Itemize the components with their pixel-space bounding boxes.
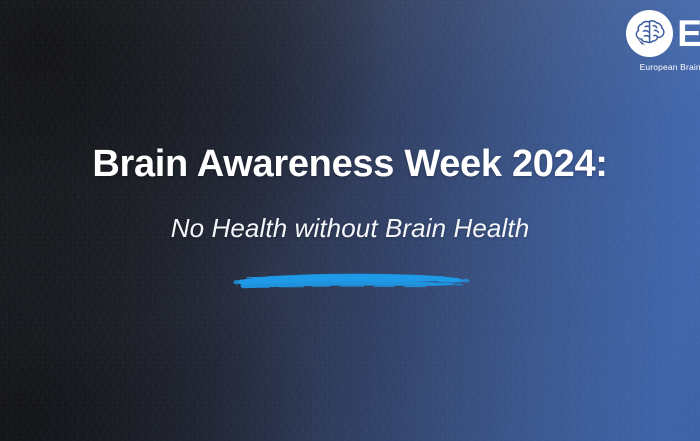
slide-title: Brain Awareness Week 2024: — [0, 144, 700, 186]
slide-canvas: EB European Brain Co Brain Awareness Wee… — [0, 0, 700, 441]
brain-icon — [626, 10, 673, 57]
brush-stroke-accent — [232, 266, 470, 300]
logo-row: EB — [626, 8, 700, 58]
logo-organisation-name: European Brain Co — [640, 62, 700, 72]
slide-subtitle: No Health without Brain Health — [0, 214, 700, 244]
logo-wordmark: EB — [677, 15, 700, 52]
brand-logo: EB European Brain Co — [612, 8, 700, 86]
